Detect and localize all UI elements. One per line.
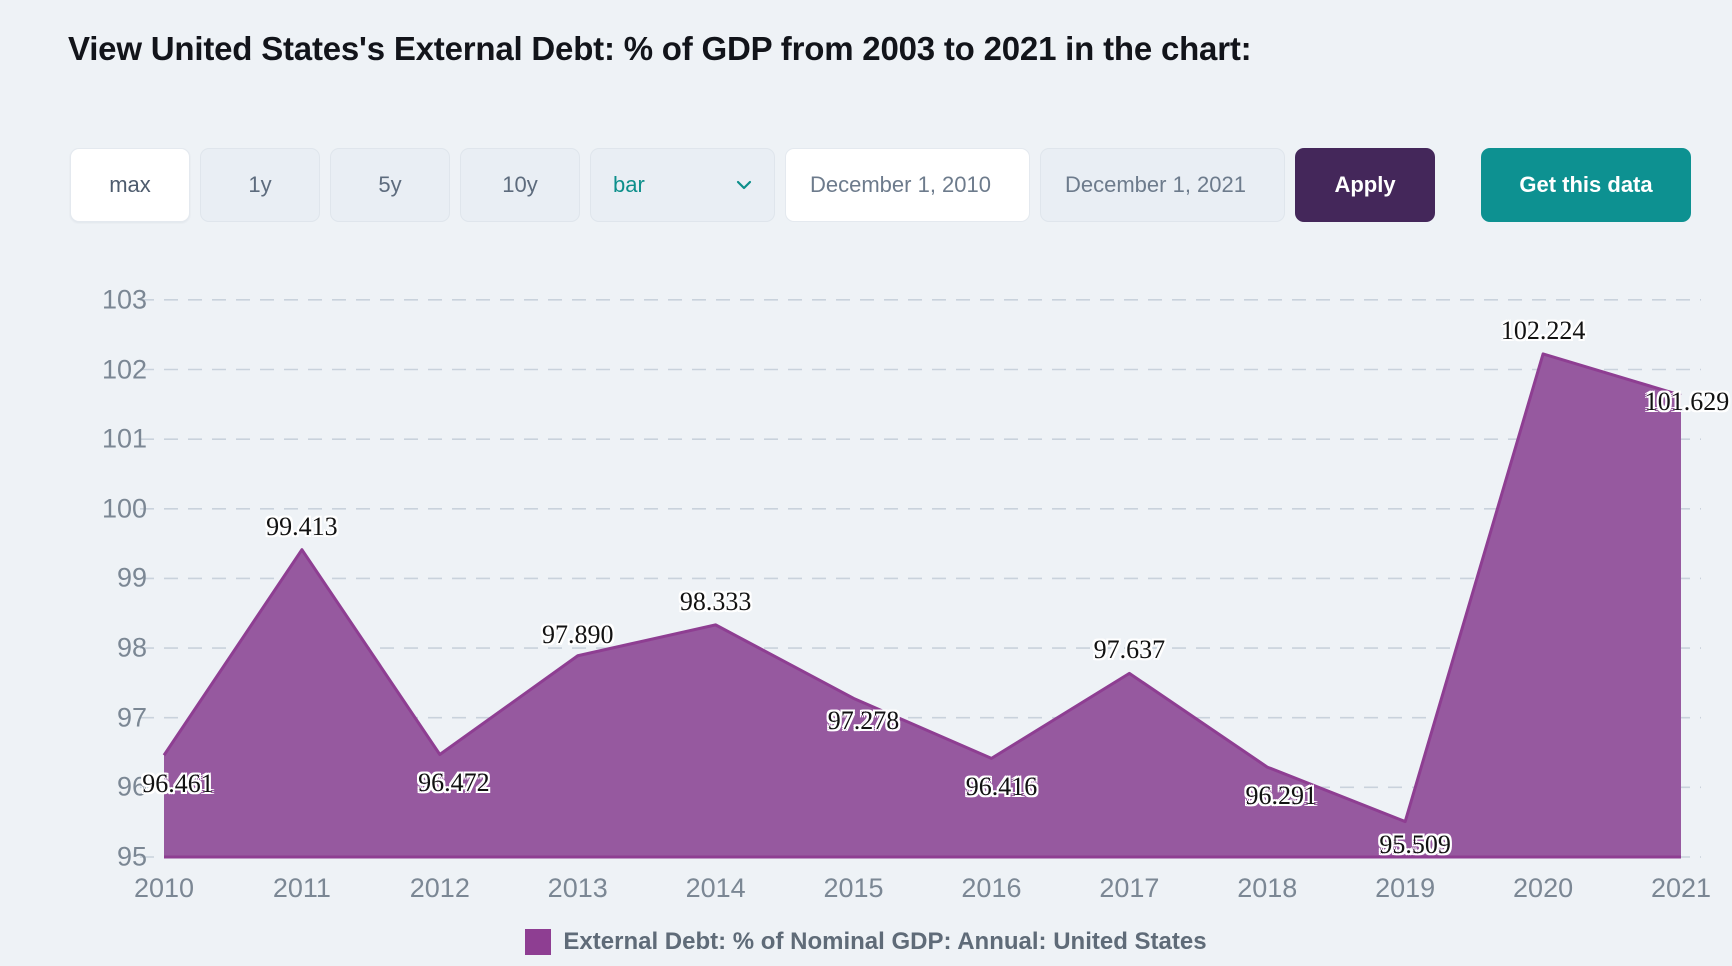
- data-point-label: 96.416: [966, 772, 1038, 802]
- y-axis-tick-label: 101: [102, 424, 147, 455]
- data-point-label: 96.291: [1246, 781, 1318, 811]
- x-axis-tick-label: 2017: [1099, 873, 1159, 904]
- x-axis-tick-label: 2011: [273, 873, 331, 904]
- range-button-max-label: max: [109, 172, 151, 198]
- apply-button[interactable]: Apply: [1295, 148, 1435, 222]
- range-button-5y-label: 5y: [378, 172, 401, 198]
- apply-button-label: Apply: [1334, 172, 1395, 198]
- range-button-1y-label: 1y: [248, 172, 271, 198]
- x-axis-tick-label: 2013: [548, 873, 608, 904]
- x-axis-tick-label: 2014: [686, 873, 746, 904]
- data-point-label: 97.890: [542, 620, 614, 650]
- y-axis-tick-label: 100: [102, 493, 147, 524]
- x-axis-tick-label: 2021: [1651, 873, 1711, 904]
- y-axis-tick-label: 102: [102, 354, 147, 385]
- legend-swatch: [525, 929, 551, 955]
- chart-type-select-value: bar: [591, 172, 645, 198]
- page-title: View United States's External Debt: % of…: [68, 30, 1251, 68]
- y-axis-tick-label: 98: [117, 633, 147, 664]
- date-to-value: December 1, 2021: [1065, 172, 1246, 198]
- date-from-value: December 1, 2010: [810, 172, 991, 198]
- chart-plot-area[interactable]: [0, 262, 1732, 966]
- data-point-label: 101.629: [1645, 387, 1730, 417]
- range-button-10y[interactable]: 10y: [460, 148, 580, 222]
- data-point-label: 102.224: [1501, 316, 1586, 346]
- date-to-input[interactable]: December 1, 2021: [1040, 148, 1285, 222]
- date-from-input[interactable]: December 1, 2010: [785, 148, 1030, 222]
- get-this-data-button-label: Get this data: [1519, 172, 1652, 198]
- x-axis-tick-label: 2015: [823, 873, 883, 904]
- range-button-5y[interactable]: 5y: [330, 148, 450, 222]
- series-area[interactable]: [164, 354, 1681, 857]
- chart-legend: External Debt: % of Nominal GDP: Annual:…: [0, 928, 1732, 956]
- data-point-label: 96.472: [418, 768, 490, 798]
- chart-container: 9596979899100101102103 20102011201220132…: [0, 262, 1732, 966]
- data-point-label: 99.413: [266, 512, 338, 542]
- y-axis: 9596979899100101102103: [60, 262, 147, 862]
- chart-type-select[interactable]: bar: [590, 148, 775, 222]
- legend-label: External Debt: % of Nominal GDP: Annual:…: [563, 928, 1206, 956]
- data-point-label: 97.637: [1094, 635, 1166, 665]
- chevron-down-icon: [734, 175, 754, 195]
- x-axis-tick-label: 2010: [134, 873, 194, 904]
- y-axis-tick-label: 97: [117, 702, 147, 733]
- x-axis: 2010201120122013201420152016201720182019…: [0, 262, 1732, 312]
- range-button-1y[interactable]: 1y: [200, 148, 320, 222]
- chart-toolbar: max 1y 5y 10y bar December 1, 2010 Decem…: [70, 148, 1435, 222]
- data-point-label: 97.278: [828, 706, 900, 736]
- x-axis-tick-label: 2012: [410, 873, 470, 904]
- range-button-10y-label: 10y: [502, 172, 537, 198]
- get-this-data-button[interactable]: Get this data: [1481, 148, 1691, 222]
- data-point-label: 96.461: [142, 769, 214, 799]
- range-button-max[interactable]: max: [70, 148, 190, 222]
- data-point-label: 95.509: [1379, 830, 1451, 860]
- y-axis-tick-label: 95: [117, 842, 147, 873]
- x-axis-tick-label: 2018: [1237, 873, 1297, 904]
- y-axis-tick-label: 99: [117, 563, 147, 594]
- x-axis-tick-label: 2020: [1513, 873, 1573, 904]
- data-point-label: 98.333: [680, 587, 752, 617]
- x-axis-tick-label: 2016: [961, 873, 1021, 904]
- x-axis-tick-label: 2019: [1375, 873, 1435, 904]
